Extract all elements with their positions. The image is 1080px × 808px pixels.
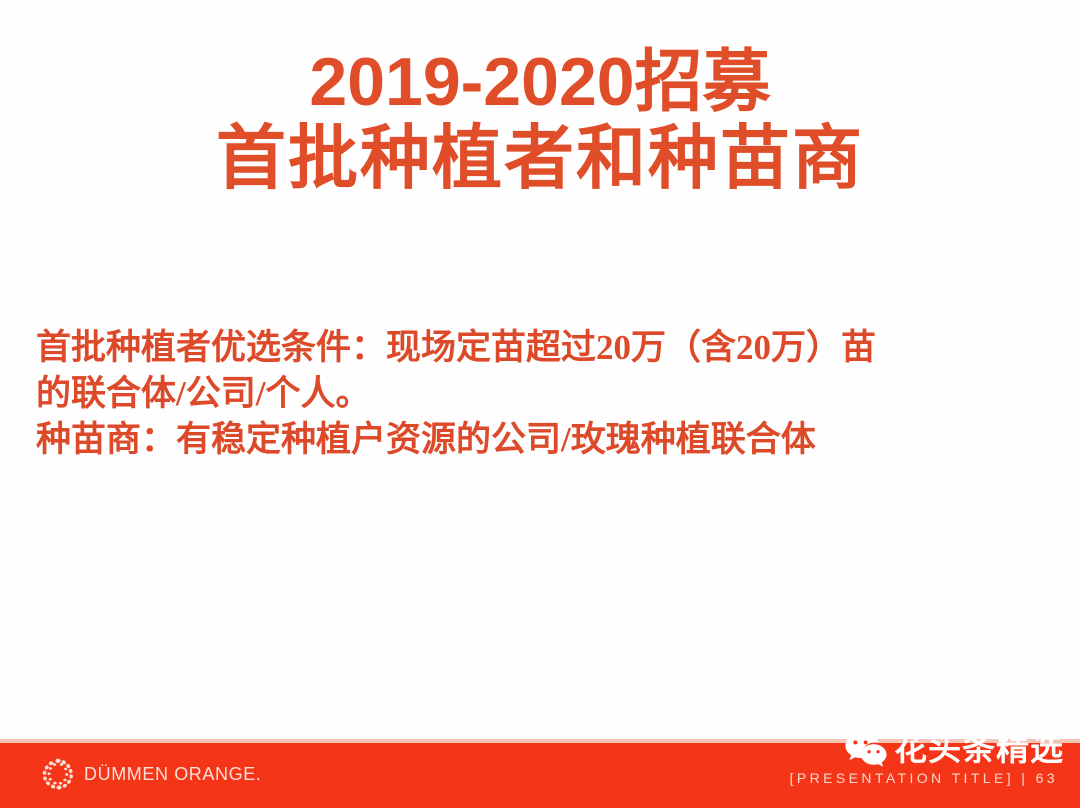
- brand-logo-text: DÜMMEN ORANGE.: [84, 764, 261, 785]
- body-line-2: 种苗商：有稳定种植户资源的公司/玫瑰种植联合体: [36, 417, 1052, 463]
- title-line-2: 首批种植者和种苗商: [0, 122, 1080, 198]
- page-title: 2019-2020招募 首批种植者和种苗商: [0, 42, 1080, 198]
- wreath-o-icon: [42, 758, 74, 790]
- watermark-text: 花头条精选: [894, 732, 1064, 768]
- wechat-icon: [844, 731, 888, 769]
- title-line-1: 2019-2020招募: [0, 42, 1080, 122]
- slide: 2019-2020招募 首批种植者和种苗商 首批种植者优选条件：现场定苗超过20…: [0, 0, 1080, 808]
- body-line-1a: 首批种植者优选条件：现场定苗超过20万（含20万）苗: [36, 325, 1052, 371]
- body-line-1b: 的联合体/公司/个人。: [36, 371, 1052, 417]
- brand-logo: DÜMMEN ORANGE.: [42, 757, 261, 791]
- presentation-title-footer: [PRESENTATION TITLE] | 63: [790, 770, 1058, 786]
- watermark: 花头条精选: [844, 728, 1064, 772]
- body-text: 首批种植者优选条件：现场定苗超过20万（含20万）苗 的联合体/公司/个人。 种…: [36, 325, 1052, 463]
